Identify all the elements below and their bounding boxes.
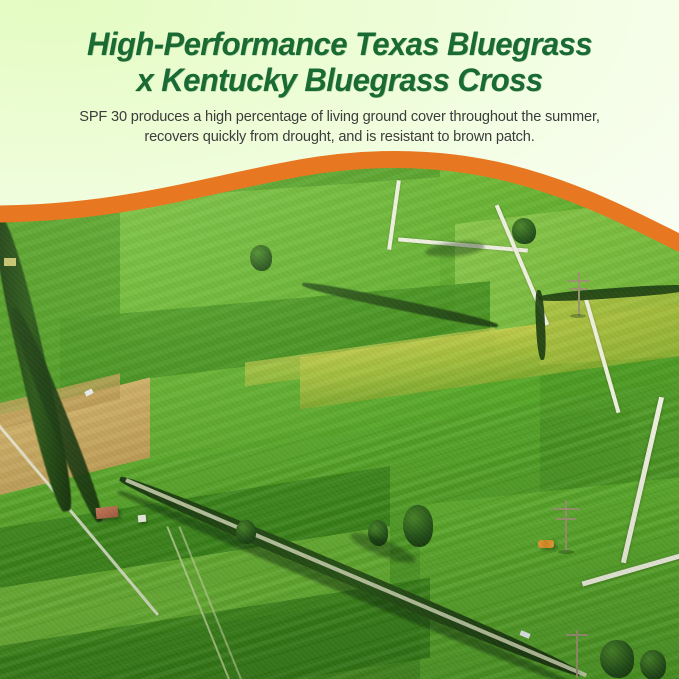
header-text-block: High-Performance Texas Bluegrass x Kentu… <box>0 0 679 147</box>
page-subtitle: SPF 30 produces a high percentage of liv… <box>0 98 679 147</box>
product-banner: High-Performance Texas Bluegrass x Kentu… <box>0 0 679 679</box>
page-title-line-1: High-Performance Texas Bluegrass <box>87 26 592 62</box>
page-title-line-2: x Kentucky Bluegrass Cross <box>36 62 642 98</box>
orange-wave-stroke <box>0 159 679 248</box>
page-title: High-Performance Texas Bluegrass x Kentu… <box>15 0 663 98</box>
page-subtitle-line-2: recovers quickly from drought, and is re… <box>44 127 635 147</box>
page-subtitle-line-1: SPF 30 produces a high percentage of liv… <box>44 107 635 127</box>
